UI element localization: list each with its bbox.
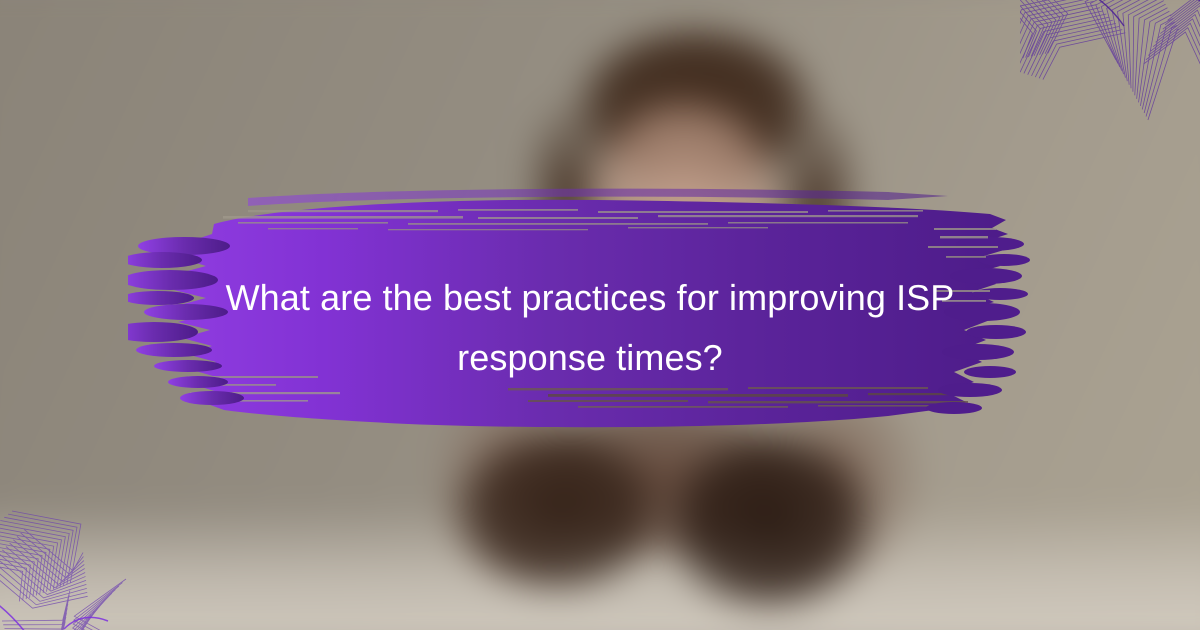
page-title: What are the best practices for improvin… [170,268,1010,388]
share-card-canvas: What are the best practices for improvin… [0,0,1200,630]
